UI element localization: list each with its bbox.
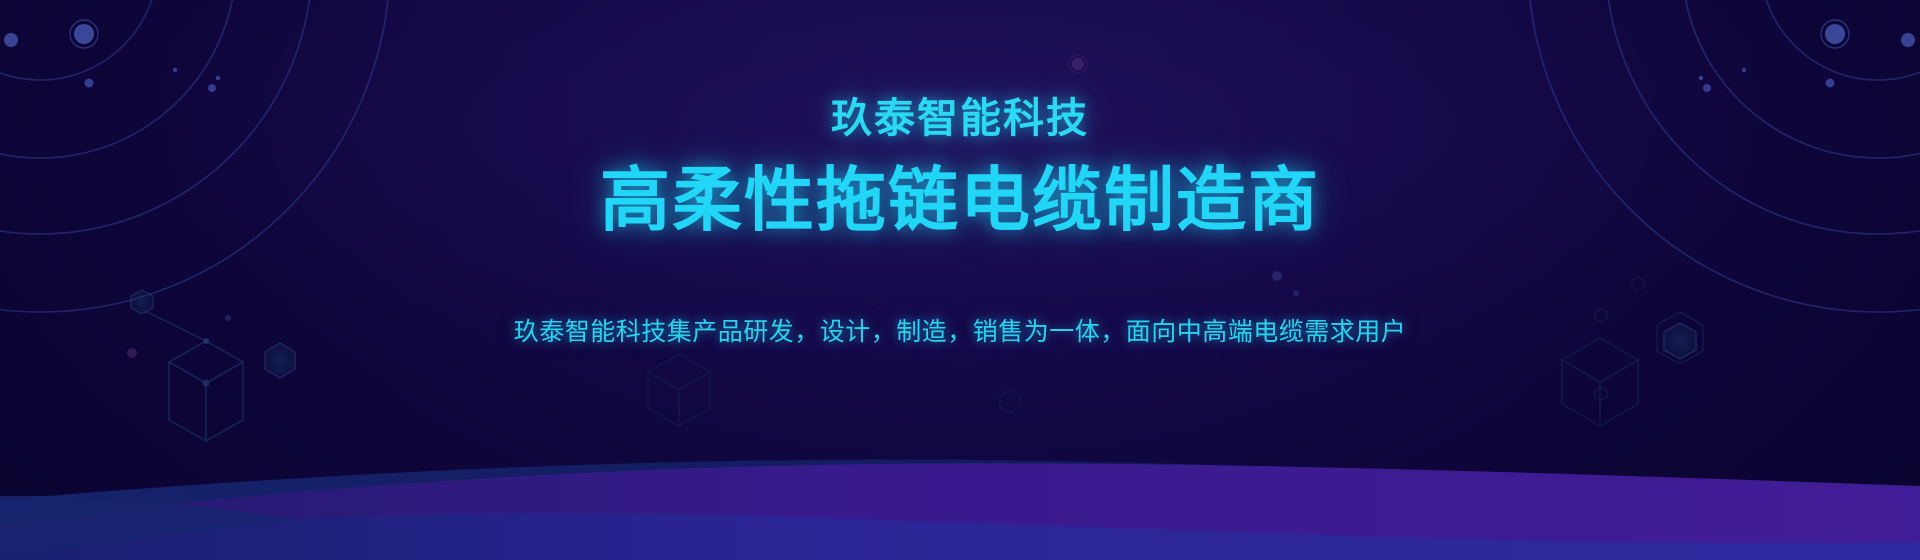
banner-eyebrow: 玖泰智能科技 xyxy=(831,98,1089,139)
banner-headline: 高柔性拖链电缆制造商 xyxy=(600,165,1320,235)
hero-banner: 玖泰智能科技 高柔性拖链电缆制造商 玖泰智能科技集产品研发，设计，制造，销售为一… xyxy=(0,0,1920,560)
banner-content: 玖泰智能科技 高柔性拖链电缆制造商 玖泰智能科技集产品研发，设计，制造，销售为一… xyxy=(0,0,1920,560)
banner-subtitle: 玖泰智能科技集产品研发，设计，制造，销售为一体，面向中高端电缆需求用户 xyxy=(514,320,1407,345)
